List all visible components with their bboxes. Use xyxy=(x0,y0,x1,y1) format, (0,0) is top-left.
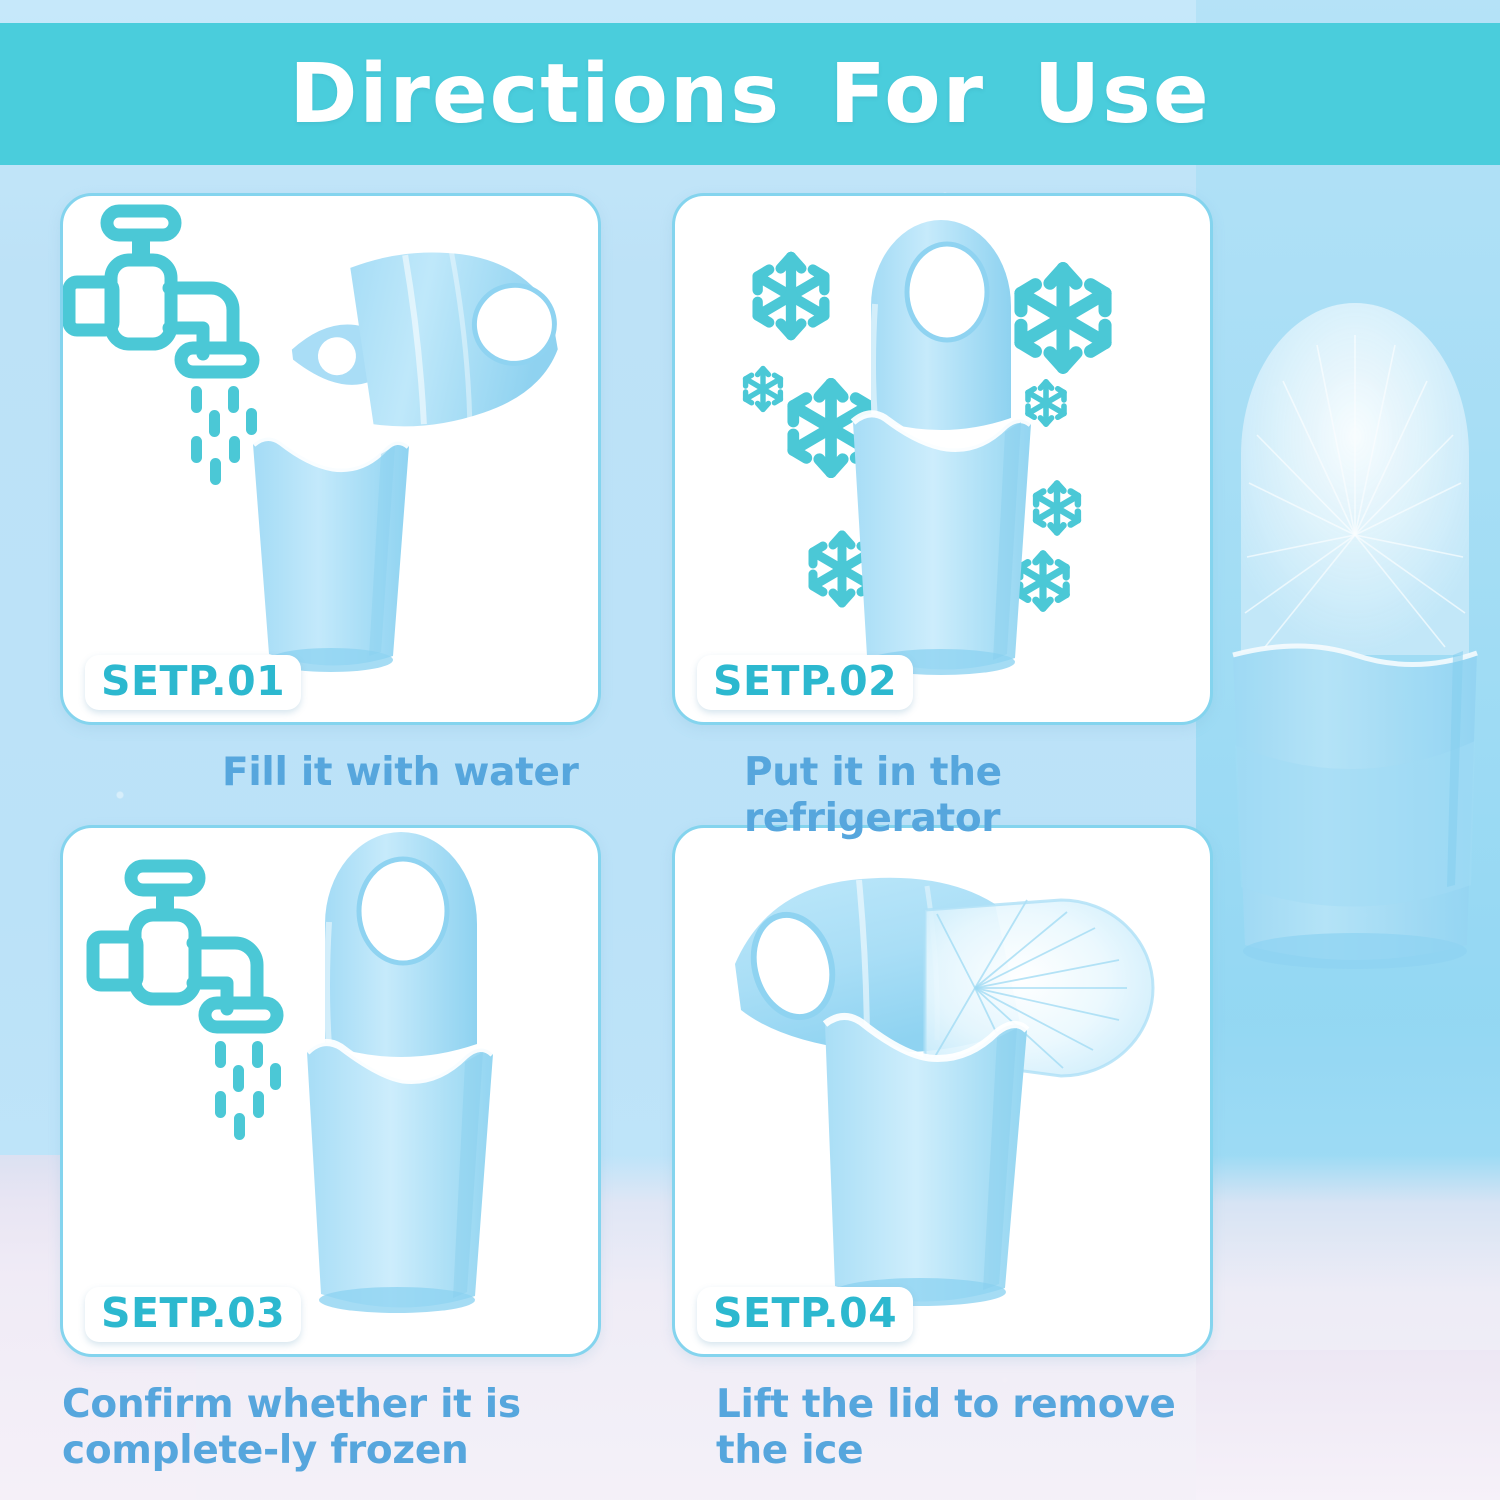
ice-mold-lid xyxy=(282,236,565,441)
step-caption-4: Lift the lid to remove the ice xyxy=(716,1382,1236,1474)
ice-mold-assembled xyxy=(853,220,1031,675)
step-caption-3: Confirm whether it is complete-ly frozen xyxy=(62,1382,622,1474)
snowflake-icon xyxy=(1021,269,1105,368)
step-badge-2: SETP.02 xyxy=(697,655,913,710)
step-card-3: SETP.03 xyxy=(60,825,601,1357)
step-2-artwork xyxy=(675,196,1210,722)
ice-pop-icon xyxy=(925,900,1153,1076)
step-badge-3: SETP.03 xyxy=(85,1287,301,1342)
snowflake-icon xyxy=(1028,382,1064,424)
step-card-4: SETP.04 xyxy=(672,825,1213,1357)
step-badge-4: SETP.04 xyxy=(697,1287,913,1342)
step-3-artwork xyxy=(63,828,598,1354)
ice-mold-cup xyxy=(253,437,409,672)
step-card-2: SETP.02 xyxy=(672,193,1213,725)
snowflake-icon xyxy=(1020,554,1066,608)
snowflake-icon xyxy=(758,257,825,335)
step-caption-2: Put it in the refrigerator xyxy=(744,750,1264,842)
step-caption-1: Fill it with water xyxy=(222,750,682,796)
faucet-icon xyxy=(69,211,253,372)
water-drops-icon xyxy=(215,1041,281,1140)
step-badge-1: SETP.01 xyxy=(85,655,301,710)
faucet-icon xyxy=(93,866,277,1027)
water-drops-icon xyxy=(191,386,257,485)
right-snow-bank xyxy=(1196,1350,1500,1500)
step-1-artwork xyxy=(63,196,598,722)
page-title: Directions For Use xyxy=(289,47,1210,142)
snowflake-icon xyxy=(1036,484,1078,533)
hero-product-photo xyxy=(1205,185,1500,1015)
ice-mold-cup xyxy=(825,1016,1027,1306)
step-card-1: SETP.01 xyxy=(60,193,601,725)
step-4-artwork xyxy=(675,828,1210,1354)
header-banner: Directions For Use xyxy=(0,23,1500,165)
ice-mold-assembled xyxy=(307,832,493,1313)
infographic-page: Directions For Use xyxy=(0,0,1500,1500)
snowflake-icon xyxy=(746,369,781,410)
